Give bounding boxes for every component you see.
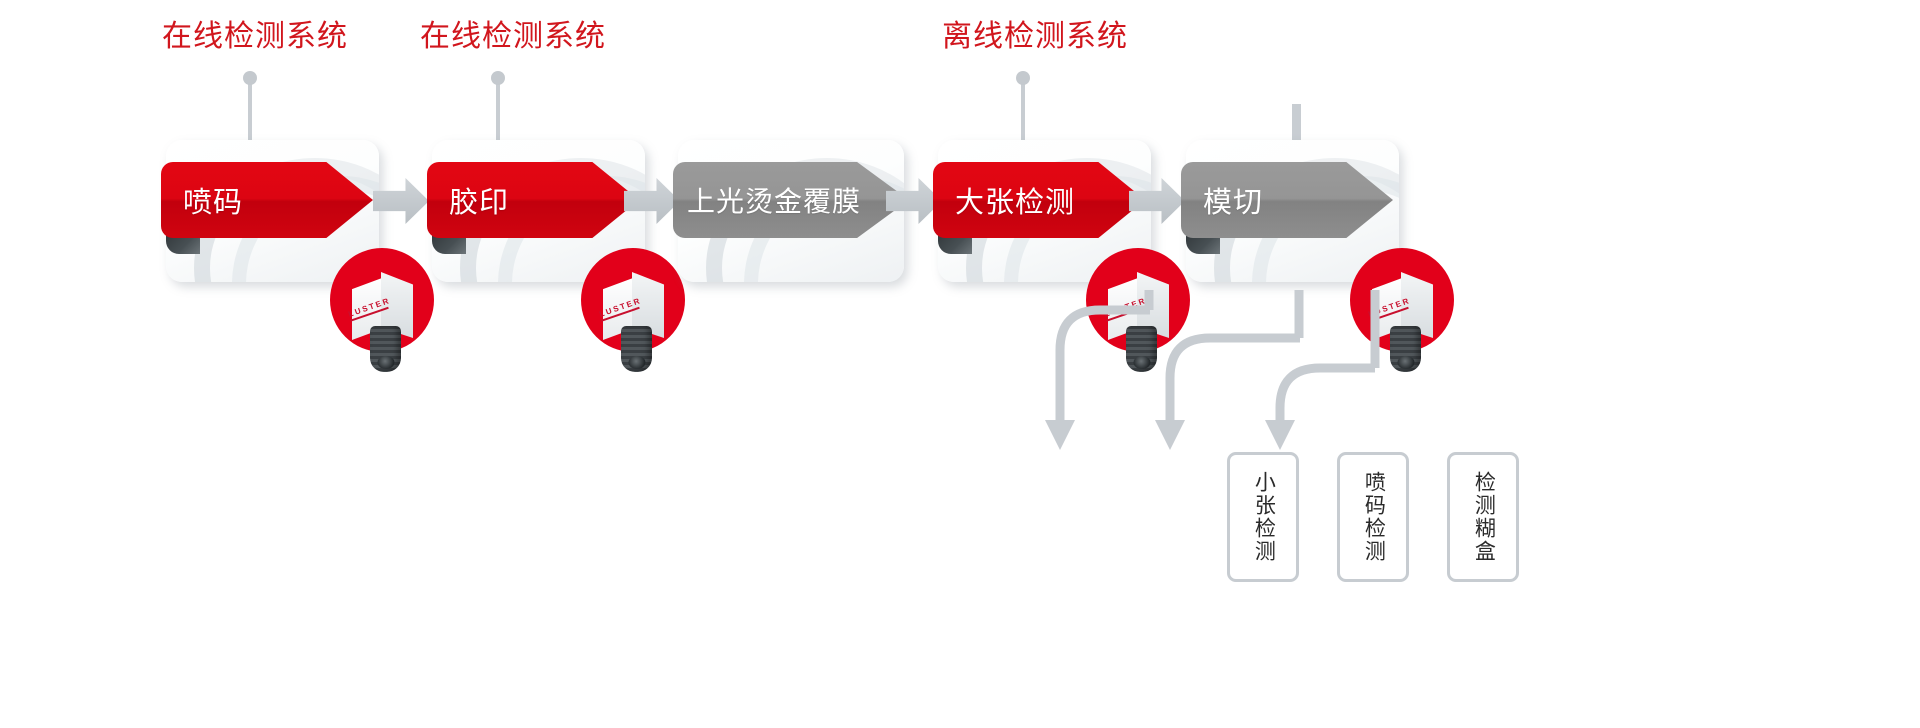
flow-arrow-1	[373, 178, 429, 224]
offline-box-1[interactable]: 小张检测	[1227, 452, 1299, 582]
camera-lens	[1390, 326, 1421, 372]
offline-feed-trunk-right	[1370, 290, 1384, 368]
offline-feed-trunk-mid	[1294, 290, 1308, 338]
offline-box-3[interactable]: 检测糊盒	[1447, 452, 1519, 582]
system-label-1: 在线检测系统	[162, 22, 348, 52]
offline-routing-pipes	[960, 290, 1380, 490]
process-step-5-label: 模切	[1203, 179, 1263, 221]
process-step-3-label: 上光烫金覆膜	[687, 180, 861, 220]
offline-box-2[interactable]: 喷码检测	[1337, 452, 1409, 582]
camera-lens	[621, 326, 652, 372]
process-flow-diagram: 在线检测系统 在线检测系统 离线检测系统 喷码 LUSTER 胶印 LUSTER	[0, 0, 1920, 728]
offline-box-1-label: 小张检测	[1251, 471, 1276, 563]
system-label-2: 在线检测系统	[420, 22, 606, 52]
camera-lens	[370, 326, 401, 372]
system-label-3: 离线检测系统	[942, 22, 1128, 52]
offline-feed-trunk-left	[1144, 290, 1158, 310]
process-step-4-label: 大张检测	[955, 179, 1075, 221]
process-step-2-label: 胶印	[449, 179, 509, 221]
process-step-1-label: 喷码	[183, 179, 243, 221]
offline-box-3-label: 检测糊盒	[1471, 471, 1496, 563]
offline-box-2-label: 喷码检测	[1361, 471, 1386, 563]
camera-icon-1[interactable]: LUSTER	[330, 248, 434, 378]
camera-icon-2[interactable]: LUSTER	[581, 248, 685, 378]
